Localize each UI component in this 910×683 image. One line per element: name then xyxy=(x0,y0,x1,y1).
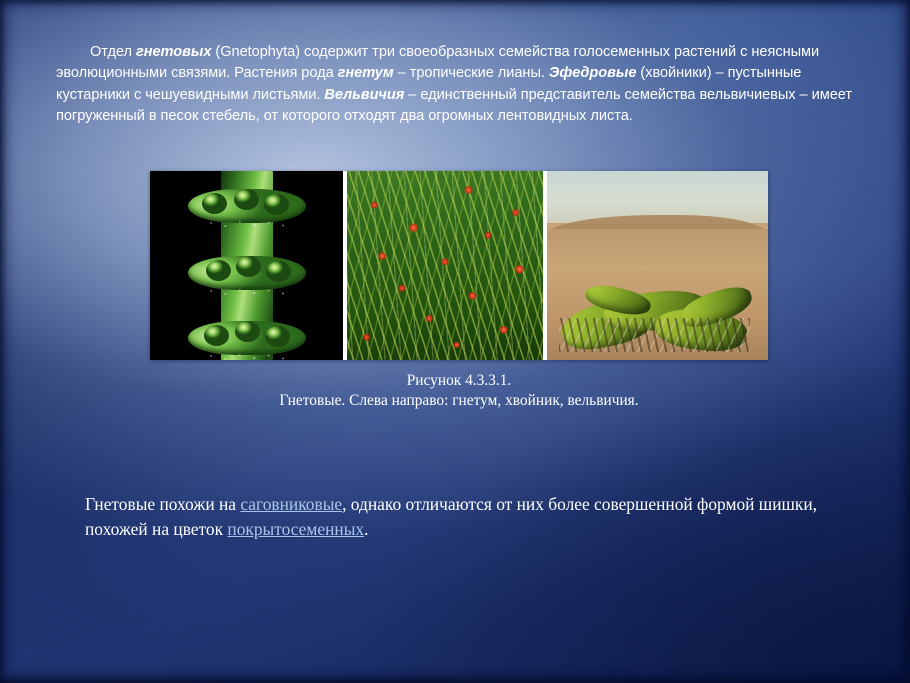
link-sagovnikovye[interactable]: саговниковые xyxy=(240,494,342,514)
figure-caption-text: Гнетовые. Слева направо: гнетум, хвойник… xyxy=(150,391,768,411)
intro-paragraph: Отдел гнетовых (Gnetophyta) содержит три… xyxy=(56,42,856,128)
intro-text-3: – тропические лианы. xyxy=(394,65,549,81)
gnetum-seed xyxy=(265,326,290,347)
closing-paragraph: Гнетовые похожи на саговниковые, однако … xyxy=(85,492,825,542)
photo-ephedra xyxy=(343,171,547,360)
term-gnetum: гнетум xyxy=(338,65,394,81)
welwitschia-plant xyxy=(559,256,750,352)
gnetum-seed xyxy=(204,325,229,346)
term-efedrovye: Эфедровые xyxy=(549,65,637,81)
photo-welwitschia xyxy=(547,171,768,360)
gnetum-seed xyxy=(234,189,259,210)
ephedra-berries xyxy=(347,171,543,360)
intro-text-1: Отдел xyxy=(90,44,136,60)
term-gnetovyh: гнетовых xyxy=(136,44,211,60)
gnetum-seed xyxy=(236,256,261,277)
figure-caption: Рисунок 4.3.3.1. Гнетовые. Слева направо… xyxy=(150,371,768,411)
gnetum-seed xyxy=(266,261,291,282)
gnetum-water-drops xyxy=(202,352,292,360)
gnetum-water-drops xyxy=(202,219,292,229)
link-pokrytosemennyh[interactable]: покрытосеменных xyxy=(227,519,364,539)
closing-text-3: . xyxy=(364,519,368,539)
gnetum-water-drops xyxy=(202,287,292,297)
figure-caption-number: Рисунок 4.3.3.1. xyxy=(150,371,768,391)
slide-canvas: Отдел гнетовых (Gnetophyta) содержит три… xyxy=(0,0,910,683)
welwitschia-dry-debris xyxy=(559,318,750,352)
term-velvichiya: Вельвичия xyxy=(324,87,404,103)
closing-text-1: Гнетовые похожи на xyxy=(85,494,240,514)
gnetum-seed xyxy=(202,193,227,214)
gnetum-seed xyxy=(235,321,260,342)
figure-image-strip xyxy=(150,171,768,360)
gnetum-seed xyxy=(206,260,231,281)
photo-gnetum xyxy=(150,171,343,360)
gnetum-seed xyxy=(264,194,289,215)
